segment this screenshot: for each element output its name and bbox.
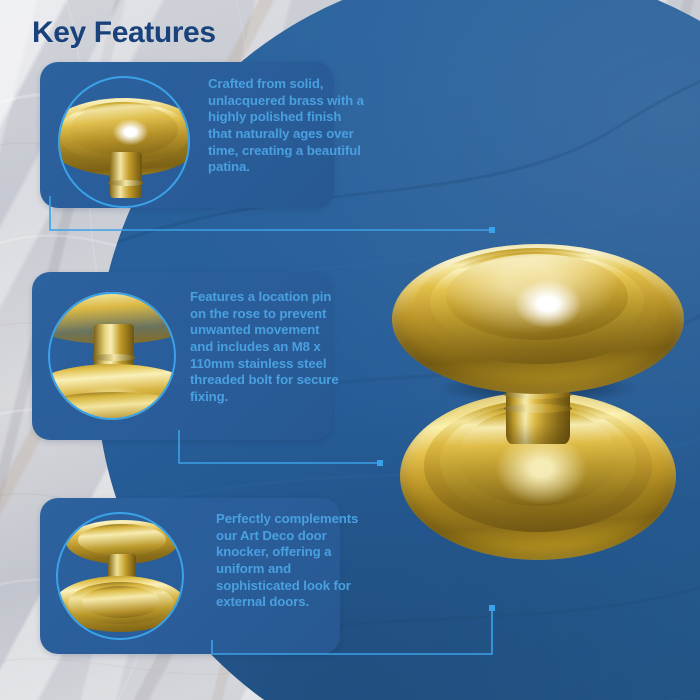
knob-stem-ring-2 xyxy=(504,404,572,413)
feature-thumb-1-ring xyxy=(58,76,190,208)
page-title: Key Features xyxy=(32,16,216,50)
feature-thumb-3-ring xyxy=(56,512,184,640)
feature-text-1: Crafted from solid, unlacquered brass wi… xyxy=(208,76,364,176)
feature-thumb-2 xyxy=(32,272,190,440)
feature-thumb-3 xyxy=(40,498,216,654)
hero-product-image xyxy=(388,244,688,566)
feature-thumb-1 xyxy=(40,62,208,208)
feature-card-material[interactable]: Crafted from solid, unlacquered brass wi… xyxy=(40,62,334,208)
infographic-canvas: Key Features Crafted from solid, unlacqu xyxy=(0,0,700,700)
feature-card-fixing[interactable]: Features a location pin on the rose to p… xyxy=(32,272,332,440)
knob-top-dome xyxy=(446,254,628,340)
feature-card-matching[interactable]: Perfectly complements our Art Deco door … xyxy=(40,498,340,654)
feature-text-3: Perfectly complements our Art Deco door … xyxy=(216,511,366,611)
feature-thumb-2-ring xyxy=(48,292,176,420)
feature-text-2: Features a location pin on the rose to p… xyxy=(190,289,340,405)
